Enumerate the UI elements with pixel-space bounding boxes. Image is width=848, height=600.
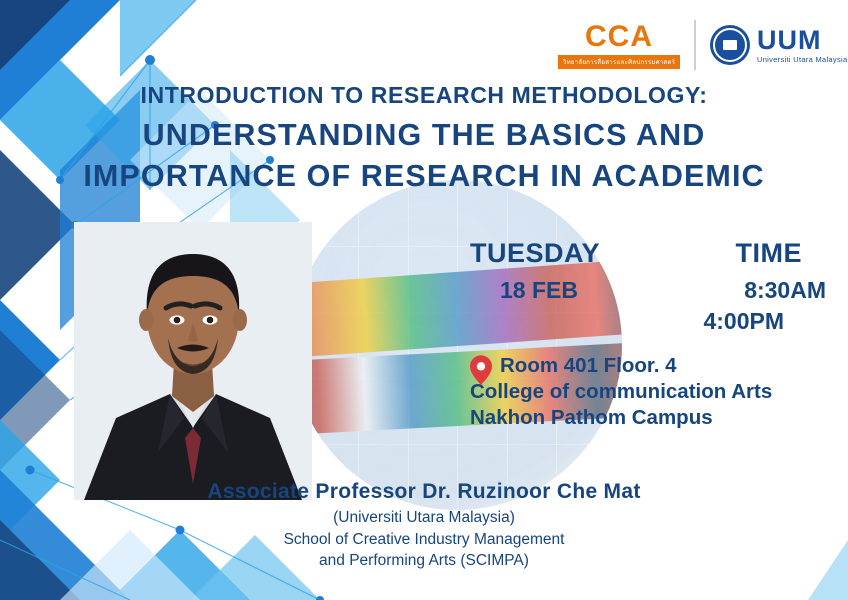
poster-canvas: CCA วิทยาลัยการสื่อสารและศิลปกรรมศาสตร์ … — [0, 0, 848, 600]
cca-thai-caption: วิทยาลัยการสื่อสารและศิลปกรรมศาสตร์ — [558, 55, 680, 69]
speaker-school-line-2: and Performing Arts (SCIMPA) — [0, 552, 848, 570]
uum-acronym: UUM — [757, 27, 847, 54]
title-line-2: UNDERSTANDING THE BASICS AND — [0, 118, 848, 153]
speaker-photo — [74, 222, 312, 500]
time-label: TIME — [736, 238, 841, 269]
speaker-school-line-1: School of Creative Industry Management — [0, 531, 848, 549]
speaker-portrait-illustration — [74, 222, 312, 500]
venue-block: Room 401 Floor. 4 College of communicati… — [470, 353, 840, 432]
uum-logo: UUM Universiti Utara Malaysia — [694, 20, 847, 70]
uum-subtitle: Universiti Utara Malaysia — [757, 56, 847, 64]
title-line-1: INTRODUCTION TO RESEARCH METHODOLOGY: — [0, 82, 848, 109]
speaker-affiliation: (Universiti Utara Malaysia) — [0, 509, 848, 527]
day-time-headers: TUESDAY TIME — [470, 238, 840, 269]
speaker-block: Associate Professor Dr. Ruzinoor Che Mat… — [0, 480, 848, 570]
venue-line-3: Nakhon Pathom Campus — [470, 405, 772, 431]
time-end: 4:00PM — [703, 308, 784, 334]
event-date: 18 FEB — [470, 277, 578, 304]
uum-seal-icon — [710, 25, 750, 65]
time-start: 8:30AM — [744, 277, 840, 304]
time-end-row: 4:00PM — [470, 308, 840, 335]
day-label: TUESDAY — [470, 238, 600, 269]
title-block: INTRODUCTION TO RESEARCH METHODOLOGY: UN… — [0, 82, 848, 194]
cca-acronym: CCA — [585, 22, 653, 52]
logo-row: CCA วิทยาลัยการสื่อสารและศิลปกรรมศาสตร์ … — [560, 14, 847, 76]
speaker-name: Associate Professor Dr. Ruzinoor Che Mat — [0, 480, 848, 504]
date-time-row: 18 FEB 8:30AM — [470, 277, 840, 304]
cca-logo: CCA วิทยาลัยการสื่อสารและศิลปกรรมศาสตร์ — [560, 16, 678, 74]
venue-line-1: Room 401 Floor. 4 — [500, 353, 772, 379]
venue-line-2: College of communication Arts — [470, 379, 772, 405]
title-line-3: IMPORTANCE OF RESEARCH IN ACADEMIC — [0, 159, 848, 194]
event-details: TUESDAY TIME 18 FEB 8:30AM 4:00PM Room 4… — [470, 238, 840, 432]
